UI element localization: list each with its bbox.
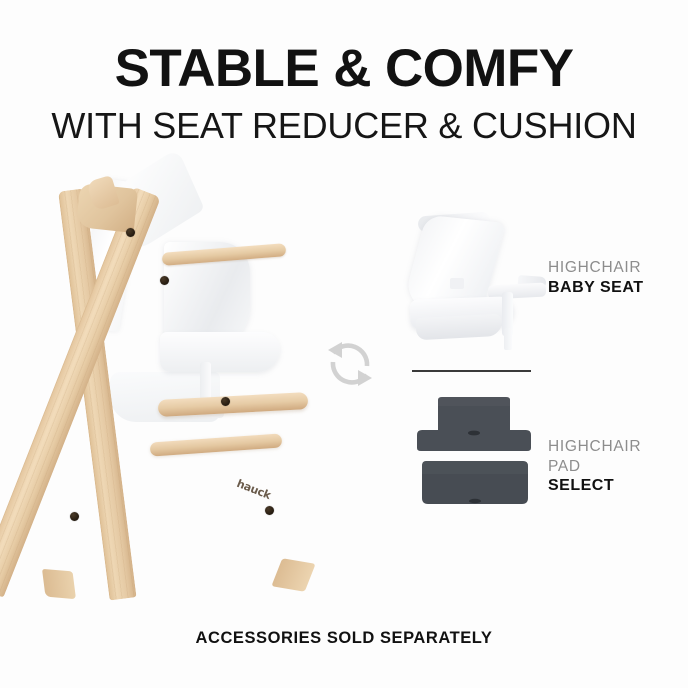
page-title: STABLE & COMFY [0,42,688,95]
hauck-brand-logo: hauck [235,477,273,502]
section-divider [412,370,531,372]
accessory-pad-label-bold: SELECT [548,476,641,496]
bolt-dot [221,397,230,406]
accessory-highchair-pad-label: HIGHCHAIR PAD SELECT [548,437,641,496]
accessory-baby-seat-label: HIGHCHAIR BABY SEAT [548,258,643,298]
pad-seat-piece [420,458,530,506]
accessory-baby-seat-label-thin: HIGHCHAIR [548,258,643,278]
highchair-product-image: hauck [14,172,334,614]
bolt-dot [160,276,169,285]
chair-step-board [150,433,283,456]
rotate-arrows-icon [322,336,378,392]
page-subtitle: WITH SEAT REDUCER & CUSHION [0,107,688,145]
accessory-baby-seat-label-bold: BABY SEAT [548,278,643,298]
chair-rear-leg-foot [42,569,76,599]
accessory-baby-seat-image [392,216,552,352]
seat-shell-seat-pan [160,332,280,372]
baby-seat-post-extension [504,328,512,350]
accessory-pad-label-thin-2: PAD [548,457,641,477]
accessories-disclaimer: ACCESSORIES SOLD SEPARATELY [0,629,688,648]
chair-front-leg-foot [271,558,315,591]
bolt-dot [126,228,135,237]
infographic-poster: STABLE & COMFY WITH SEAT REDUCER & CUSHI… [0,0,688,688]
bolt-dot [265,506,274,515]
pad-backrest-piece [416,396,532,452]
bolt-dot [70,512,79,521]
accessory-highchair-pad-image [412,396,536,520]
accessory-pad-label-thin-1: HIGHCHAIR [548,437,641,457]
baby-seat-harness-clip [450,278,464,289]
baby-seat-front-skirt [415,314,502,340]
